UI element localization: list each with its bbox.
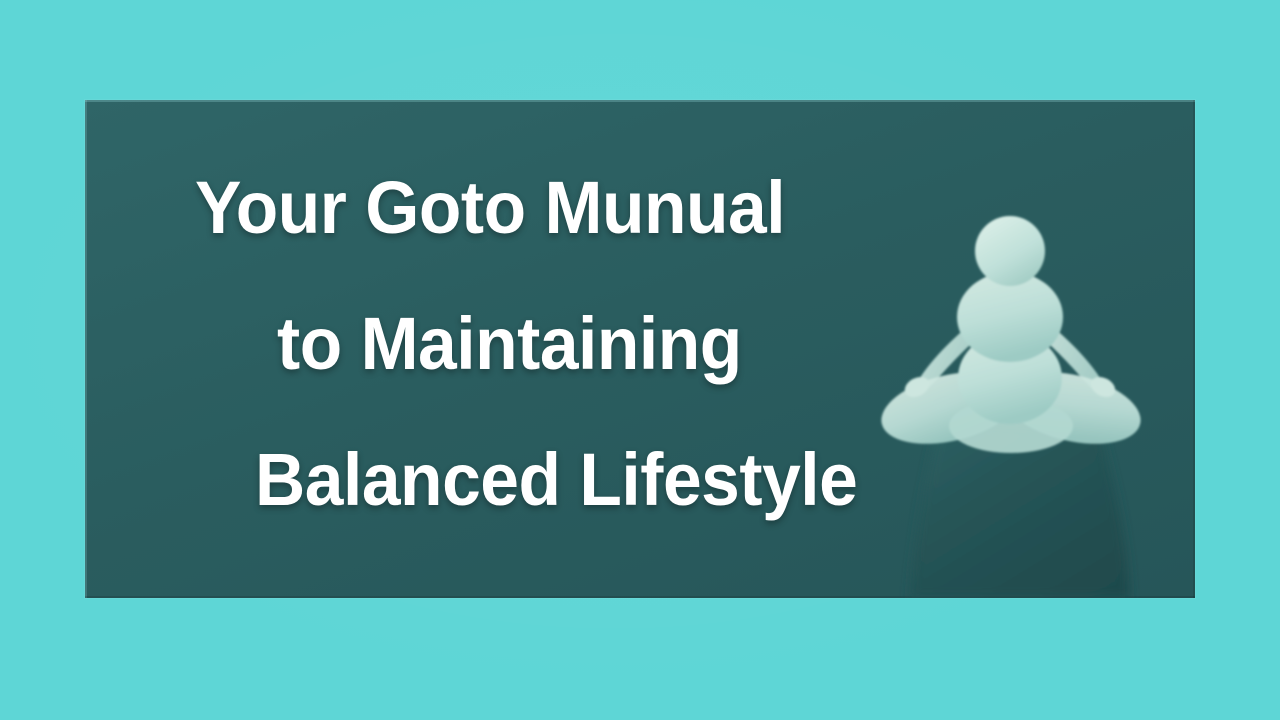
headline-block: Your Goto Munual to Maintaining Balanced… [195, 140, 1155, 548]
card-left-highlight [85, 100, 87, 598]
card-top-highlight [85, 100, 1195, 102]
headline-line-3: Balanced Lifestyle [255, 412, 1101, 548]
headline-line-2: to Maintaining [277, 276, 1102, 412]
slide-canvas: Your Goto Munual to Maintaining Balanced… [0, 0, 1280, 720]
headline-line-1: Your Goto Munual [195, 140, 1097, 276]
card-right-shadow [1193, 100, 1195, 598]
title-card: Your Goto Munual to Maintaining Balanced… [85, 100, 1195, 598]
